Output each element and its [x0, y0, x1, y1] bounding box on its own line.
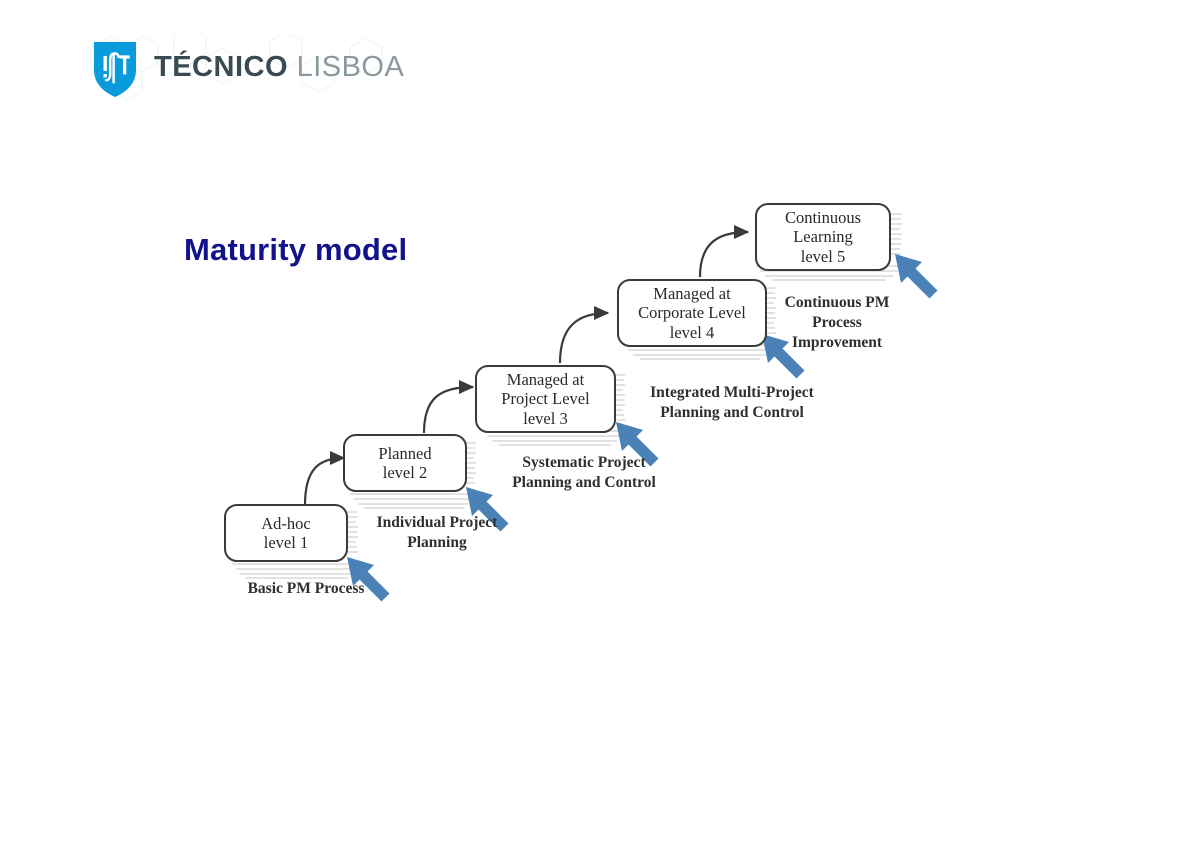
flow-arrow-4-to-5 [700, 232, 748, 277]
stage-line: level 2 [383, 463, 427, 482]
caption-line: Individual Project [363, 513, 511, 533]
caption-line: Continuous PM [767, 293, 907, 313]
flow-arrow-1-to-2 [305, 458, 344, 505]
caption-line: Planning and Control [494, 473, 674, 493]
stage-line: Managed at [653, 284, 730, 303]
stage-line: Corporate Level [638, 303, 746, 322]
stage-line: Project Level [501, 389, 589, 408]
caption-line: Improvement [767, 333, 907, 353]
caption-line: Integrated Multi-Project [637, 383, 827, 403]
stage-line: Ad-hoc [261, 514, 310, 533]
stage-line: Managed at [507, 370, 584, 389]
stage-line: level 4 [670, 323, 714, 342]
caption-level-3: Systematic Project Planning and Control [494, 453, 674, 493]
stage-line: Learning [793, 227, 853, 246]
stage-line: Continuous [785, 208, 861, 227]
stage-box-level-5[interactable]: Continuous Learning level 5 [755, 203, 891, 271]
stage-line: level 1 [264, 533, 308, 552]
stage-box-level-4[interactable]: Managed at Corporate Level level 4 [617, 279, 767, 347]
stage-line: level 3 [523, 409, 567, 428]
caption-line: Process [767, 313, 907, 333]
maturity-model-diagram: Ad-hoc level 1 Basic PM Process Planned … [0, 0, 1200, 848]
caption-level-4: Integrated Multi-Project Planning and Co… [637, 383, 827, 423]
flow-arrow-3-to-4 [560, 313, 608, 363]
slide-canvas: TÉCNICO LISBOA Maturity model [0, 0, 1200, 848]
caption-level-5: Continuous PM Process Improvement [767, 293, 907, 352]
stage-line: Planned [378, 444, 431, 463]
stage-box-level-1[interactable]: Ad-hoc level 1 [224, 504, 348, 562]
caption-line: Basic PM Process [231, 579, 381, 599]
stage-box-level-3[interactable]: Managed at Project Level level 3 [475, 365, 616, 433]
caption-line: Planning [363, 533, 511, 553]
caption-level-2: Individual Project Planning [363, 513, 511, 553]
caption-line: Planning and Control [637, 403, 827, 423]
stage-box-level-2[interactable]: Planned level 2 [343, 434, 467, 492]
caption-line: Systematic Project [494, 453, 674, 473]
flow-arrow-2-to-3 [424, 387, 473, 433]
annotation-arrow-level-5 [895, 254, 938, 299]
caption-level-1: Basic PM Process [231, 579, 381, 599]
stage-line: level 5 [801, 247, 845, 266]
